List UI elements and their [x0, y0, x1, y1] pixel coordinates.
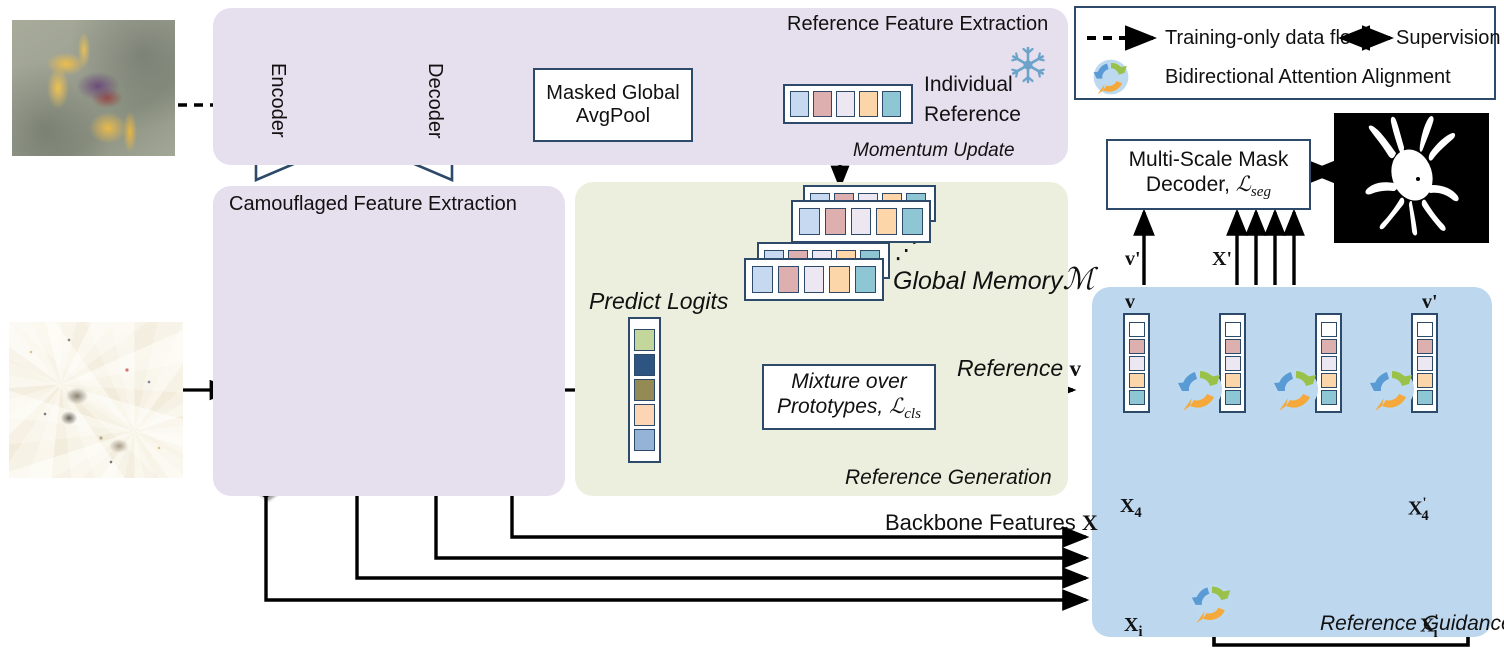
chip — [1129, 373, 1145, 388]
chip — [1225, 356, 1241, 371]
chip — [1417, 373, 1433, 388]
panel-title-reference-feature-extraction: Reference Feature Extraction — [787, 13, 1048, 36]
v-input-label: v — [1125, 291, 1135, 314]
legend-supervision-label: Supervision — [1396, 27, 1501, 50]
v-output-label: v' — [1422, 291, 1438, 314]
v-prime-decoder-input-label: v' — [1125, 248, 1141, 271]
chip — [813, 91, 832, 117]
mixture-loss-symbol: ℒ — [889, 394, 904, 418]
xi-label: Xi — [1124, 614, 1142, 641]
chip — [859, 91, 878, 117]
panel-title-reference-guidance: Reference Guidance — [1320, 612, 1504, 636]
chip — [1321, 390, 1337, 405]
x4-prime-subscript: 4 — [1421, 508, 1428, 524]
xi-text: X — [1124, 614, 1138, 636]
chip — [902, 208, 923, 235]
mask-decoder-line2: Decoder, ℒseg — [1146, 172, 1271, 202]
chip — [1129, 390, 1145, 405]
chip — [1417, 356, 1433, 371]
bidirectional-attention-icon[interactable] — [1190, 581, 1234, 625]
masked-global-avgpool-line2: AvgPool — [576, 105, 650, 128]
chip — [1129, 322, 1145, 337]
xi-prime-subscript: i — [1433, 625, 1437, 641]
reference-v-text: Reference — [957, 355, 1063, 381]
chip — [634, 429, 655, 451]
x4-text: X — [1120, 495, 1134, 517]
x-prime-decoder-input-label: X' — [1212, 248, 1232, 271]
panel-title-camouflaged-feature-extraction: Camouflaged Feature Extraction — [229, 193, 517, 216]
legend-bidirectional-attention-icon — [1092, 58, 1130, 96]
x4-subscript: 4 — [1134, 505, 1141, 521]
chip — [752, 266, 773, 293]
reference-v-label: Reference v — [957, 355, 1081, 382]
chip — [790, 91, 809, 117]
xi-prime-label: X'i — [1420, 612, 1437, 642]
panel-camouflaged-feature-extraction — [213, 186, 565, 496]
bidirectional-attention-icon[interactable] — [1176, 365, 1224, 413]
bidirectional-attention-icon[interactable] — [1368, 365, 1416, 413]
xi-subscript: i — [1138, 624, 1142, 640]
bidirectional-attention-icon[interactable] — [1272, 365, 1320, 413]
camouflaged-image-crab-on-gravel — [9, 322, 183, 478]
chip — [1321, 339, 1337, 354]
decoder-label: Decoder — [423, 63, 446, 139]
chip — [1417, 322, 1433, 337]
panel-title-reference-generation: Reference Generation — [845, 466, 1052, 490]
v-output-text: v' — [1422, 291, 1438, 313]
chip — [1321, 373, 1337, 388]
reference-v-symbol: v — [1070, 356, 1082, 381]
chip — [1225, 373, 1241, 388]
legend-bidirectional-label: Bidirectional Attention Alignment — [1165, 66, 1451, 89]
backbone-features-label: Backbone Features X — [885, 510, 1098, 536]
mask-decoder-line1: Multi-Scale Mask — [1129, 148, 1289, 172]
memory-bar-front-1 — [791, 200, 931, 243]
predict-logits-bar — [628, 317, 661, 463]
chip — [1129, 339, 1145, 354]
individual-reference-bar — [783, 84, 913, 124]
chip — [634, 379, 655, 401]
chip — [836, 91, 855, 117]
masked-global-avgpool-line1: Masked Global — [546, 82, 679, 105]
snowflake-icon — [1008, 45, 1048, 85]
individual-reference-label-line1: Individual — [924, 73, 1013, 97]
predict-logits-label: Predict Logits — [589, 288, 728, 315]
backbone-features-symbol: X — [1082, 510, 1098, 535]
x4-prime-label: X'4 — [1408, 495, 1429, 525]
individual-reference-label-line2: Reference — [924, 103, 1021, 127]
chip — [634, 354, 655, 376]
chip — [829, 266, 850, 293]
chip — [1321, 322, 1337, 337]
chip — [1225, 339, 1241, 354]
x-prime-text: X' — [1212, 248, 1232, 270]
chip — [1225, 322, 1241, 337]
chip — [1417, 390, 1433, 405]
mixture-over-prototypes-box[interactable]: Mixture over Prototypes, ℒcls — [762, 364, 936, 430]
chip — [855, 266, 876, 293]
chip — [634, 404, 655, 426]
reference-image-crab — [12, 20, 175, 156]
global-memory-label: Global Memoryℳ — [893, 262, 1095, 297]
mixture-line2: Prototypes, ℒcls — [777, 394, 921, 424]
chip — [1417, 339, 1433, 354]
global-memory-text: Global Memory — [893, 267, 1063, 295]
chip — [851, 208, 872, 235]
v-prime-text: v' — [1125, 248, 1141, 270]
v-input-text: v — [1125, 291, 1135, 313]
momentum-update-label: Momentum Update — [853, 140, 1015, 162]
chip — [882, 91, 901, 117]
encoder-label: Encoder — [266, 63, 289, 138]
chip — [825, 208, 846, 235]
mixture-loss-subscript: cls — [904, 406, 921, 422]
chip — [1321, 356, 1337, 371]
masked-global-avgpool-box[interactable]: Masked Global AvgPool — [533, 68, 693, 142]
guidance-vector-1 — [1123, 313, 1150, 413]
mixture-line2-text: Prototypes, — [777, 395, 889, 418]
chip — [634, 329, 655, 351]
mixture-line1: Mixture over — [791, 370, 907, 394]
chip — [1129, 356, 1145, 371]
chip — [1225, 390, 1241, 405]
backbone-features-text: Backbone Features — [885, 510, 1076, 535]
x4-label: X4 — [1120, 495, 1142, 522]
chip — [876, 208, 897, 235]
chip — [778, 266, 799, 293]
chip — [804, 266, 825, 293]
ground-truth-mask-image — [1334, 113, 1489, 243]
multi-scale-mask-decoder-box[interactable]: Multi-Scale Mask Decoder, ℒseg — [1106, 139, 1311, 210]
mask-decoder-line2-text: Decoder, — [1146, 173, 1236, 196]
global-memory-symbol: ℳ — [1063, 263, 1095, 296]
memory-bar-front-2 — [744, 258, 884, 301]
chip — [799, 208, 820, 235]
mask-decoder-loss-subscript: seg — [1251, 184, 1271, 200]
mask-decoder-loss-symbol: ℒ — [1236, 172, 1251, 196]
